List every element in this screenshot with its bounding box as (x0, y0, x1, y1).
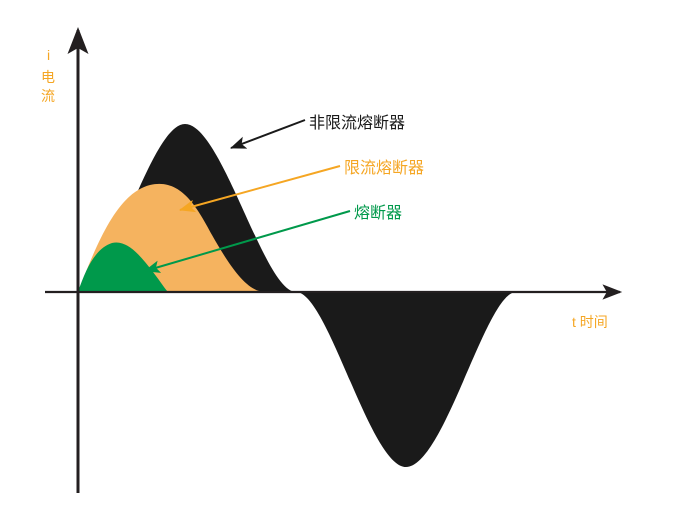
annotation-arrow-non-current-limiting-fuse (231, 120, 305, 148)
current-limiting-fuse-chart: i 电 流 t 时间 非限流熔断器 限流熔断器 熔断器 (0, 0, 687, 519)
annotation-non-current-limiting-fuse: 非限流熔断器 (231, 114, 405, 148)
y-axis-label-char-2: 流 (41, 88, 55, 104)
y-axis-label-char-1: 电 (41, 69, 55, 85)
annotation-label-non-current-limiting-fuse: 非限流熔断器 (309, 114, 405, 132)
annotation-label-fuse: 熔断器 (354, 204, 402, 222)
y-axis-label-group: i 电 流 (41, 47, 55, 104)
y-axis-symbol: i (47, 47, 50, 63)
x-axis-label: t 时间 (572, 314, 608, 330)
prospective-sine-area (78, 124, 516, 467)
annotation-label-current-limiting-fuse: 限流熔断器 (344, 159, 424, 177)
